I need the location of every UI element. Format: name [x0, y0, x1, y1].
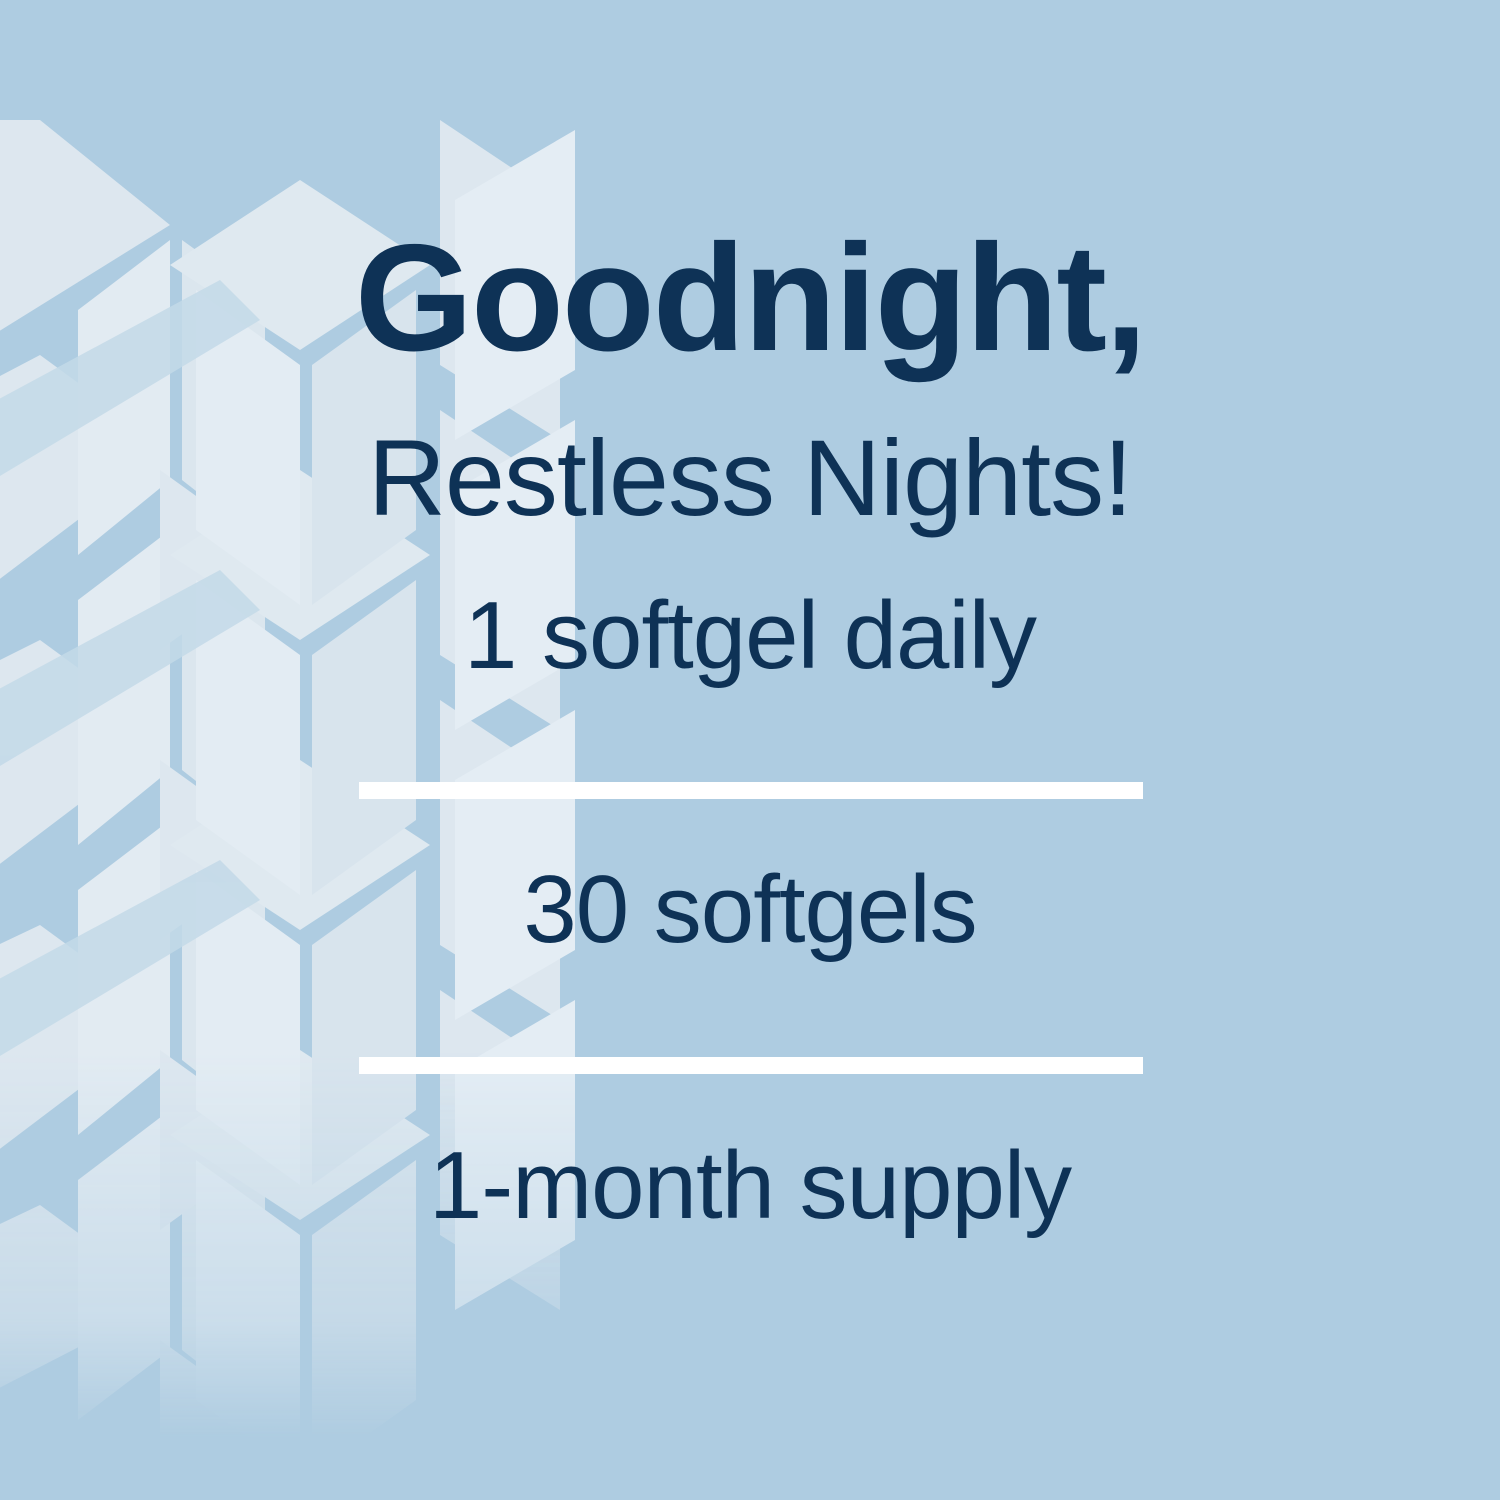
headline-primary: Goodnight, — [0, 222, 1500, 374]
product-info-panel: Goodnight, Restless Nights! 1 softgel da… — [0, 0, 1500, 1500]
headline-secondary: Restless Nights! — [0, 414, 1500, 541]
fact-supply-duration: 1-month supply — [0, 1138, 1500, 1234]
fact-count: 30 softgels — [0, 862, 1500, 958]
divider-line-1 — [359, 782, 1143, 799]
divider-line-2 — [359, 1057, 1143, 1074]
content-stack: Goodnight, Restless Nights! 1 softgel da… — [0, 0, 1500, 1500]
fact-dosage: 1 softgel daily — [0, 588, 1500, 684]
